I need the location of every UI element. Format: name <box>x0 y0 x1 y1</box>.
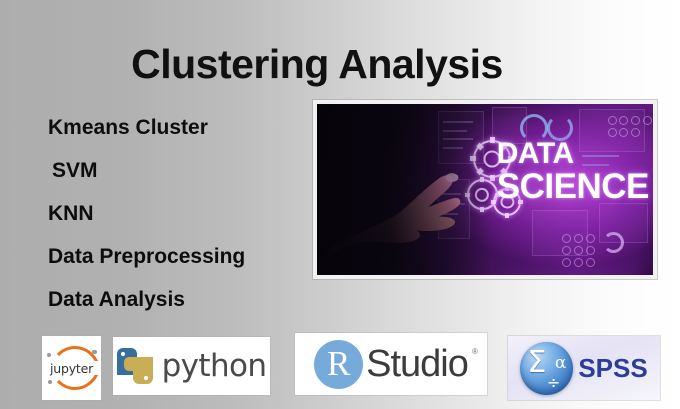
spss-orb: Σ α ÷ <box>520 342 573 395</box>
rstudio-icon: R Studio ® <box>314 340 468 389</box>
divide-icon: ÷ <box>547 375 560 391</box>
slide-canvas: Clustering Analysis Kmeans Cluster SVM K… <box>0 0 680 409</box>
rstudio-r-mark: R <box>314 340 363 389</box>
python-logo-card: python <box>113 337 270 395</box>
python-mark <box>117 348 153 384</box>
jupyter-icon: jupyter <box>46 346 98 390</box>
rstudio-label: Studio ® <box>366 345 468 383</box>
jupyter-logo-card: jupyter <box>42 336 101 400</box>
rstudio-r-letter: R <box>327 346 350 381</box>
rstudio-label-text: Studio <box>366 343 468 385</box>
alpha-icon: α <box>555 355 566 372</box>
jupyter-label: jupyter <box>50 361 93 376</box>
spss-logo-card: Σ α ÷ SPSS <box>508 336 660 400</box>
rstudio-logo-card: R Studio ® <box>295 333 487 395</box>
spss-label: SPSS <box>578 355 647 381</box>
python-label: python <box>162 351 267 382</box>
python-icon: python <box>117 348 267 384</box>
registered-trademark-icon: ® <box>472 348 477 356</box>
spss-icon: Σ α ÷ SPSS <box>520 342 647 395</box>
tool-logo-row: jupyter python R Studio ® <box>0 0 680 409</box>
sigma-icon: Σ <box>527 348 546 378</box>
python-snake-yellow <box>133 357 153 384</box>
